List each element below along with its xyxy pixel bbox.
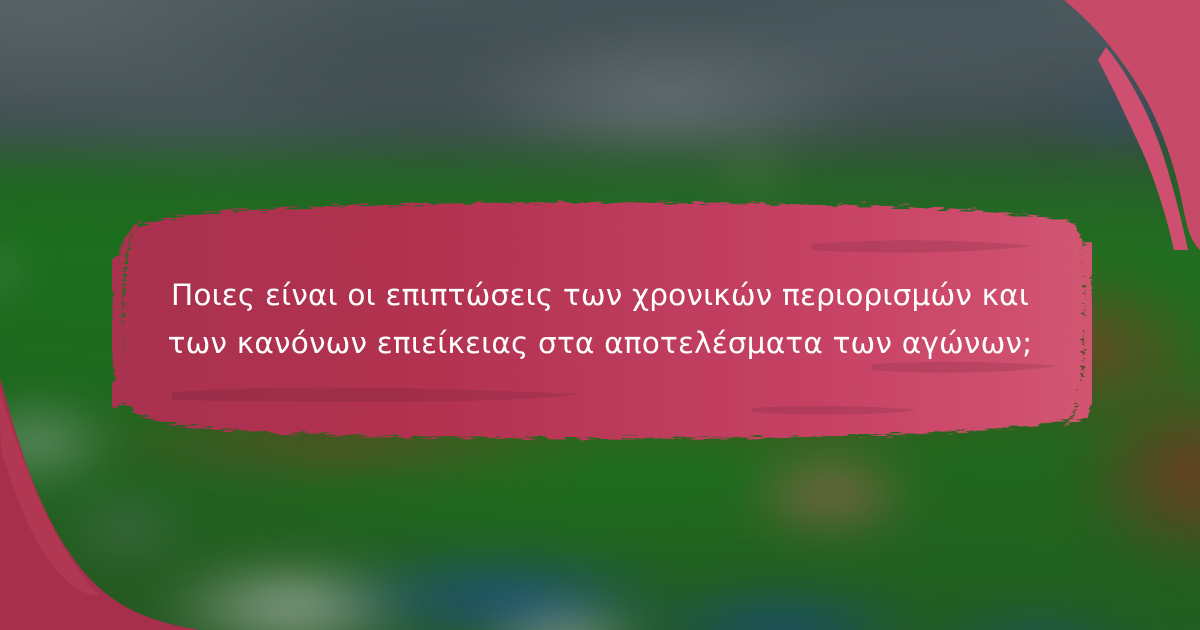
headline-text: Ποιες είναι οι επιπτώσεις των χρονικών π… bbox=[150, 210, 1050, 430]
share-card: Ποιες είναι οι επιπτώσεις των χρονικών π… bbox=[0, 0, 1200, 630]
headline-line-1: Ποιες είναι οι επιπτώσεις των χρονικών π… bbox=[171, 272, 1029, 320]
headline-line-2: των κανόνων επιείκειας στα αποτελέσματα … bbox=[168, 320, 1033, 368]
